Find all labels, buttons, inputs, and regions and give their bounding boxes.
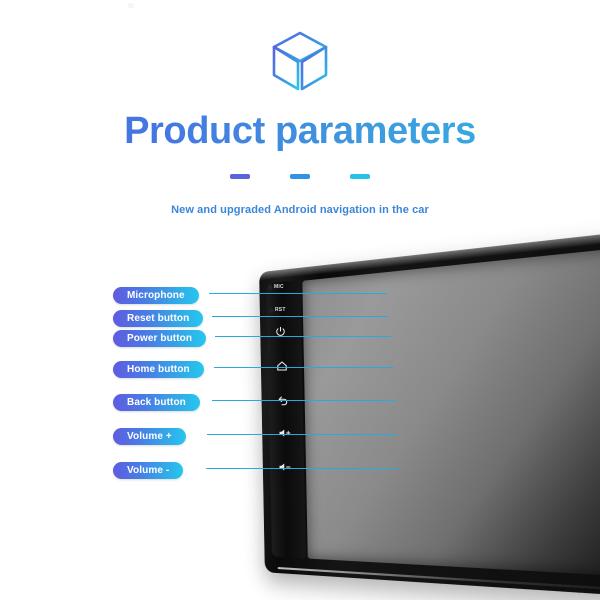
title-divider-dashes [0, 174, 600, 179]
leader-line-microphone [209, 293, 387, 294]
callout-label-volume-down[interactable]: Volume - [113, 462, 183, 479]
callout-home-button[interactable]: Home button [113, 359, 204, 378]
page-subtitle: New and upgraded Android navigation in t… [0, 204, 600, 216]
callout-microphone[interactable]: Microphone [113, 285, 199, 304]
callout-label-home-button[interactable]: Home button [113, 361, 204, 378]
leader-line-home-button [214, 367, 394, 368]
divider-dash-3 [350, 174, 370, 179]
callout-power-button[interactable]: Power button [113, 328, 206, 347]
leader-line-back-button [212, 400, 396, 401]
callout-label-power-button[interactable]: Power button [113, 330, 206, 347]
leader-line-reset-button [212, 316, 388, 317]
callout-back-button[interactable]: Back button [113, 392, 200, 411]
callout-reset-button[interactable]: Reset button [113, 308, 203, 327]
callout-volume-up[interactable]: Volume + [113, 426, 186, 445]
divider-dash-1 [230, 174, 250, 179]
leader-line-volume-up [207, 434, 397, 435]
device-body [259, 227, 600, 598]
page-title: Product parameters [0, 110, 600, 153]
page-corner-artifact [128, 3, 134, 8]
device-illustration: MIC RST [252, 262, 600, 592]
callout-label-back-button[interactable]: Back button [113, 394, 200, 411]
leader-line-power-button [215, 336, 391, 337]
leader-line-volume-down [206, 468, 398, 469]
callout-volume-down[interactable]: Volume - [113, 460, 183, 479]
divider-dash-2 [290, 174, 310, 179]
device-left-bezel [267, 280, 306, 558]
callout-label-volume-up[interactable]: Volume + [113, 428, 186, 445]
cube-3d-icon [0, 24, 600, 98]
callout-label-microphone[interactable]: Microphone [113, 287, 199, 304]
device-screen [302, 244, 600, 578]
product-parameters-infographic: Product parameters New and upgraded Andr… [0, 0, 600, 600]
callout-label-reset-button[interactable]: Reset button [113, 310, 203, 327]
